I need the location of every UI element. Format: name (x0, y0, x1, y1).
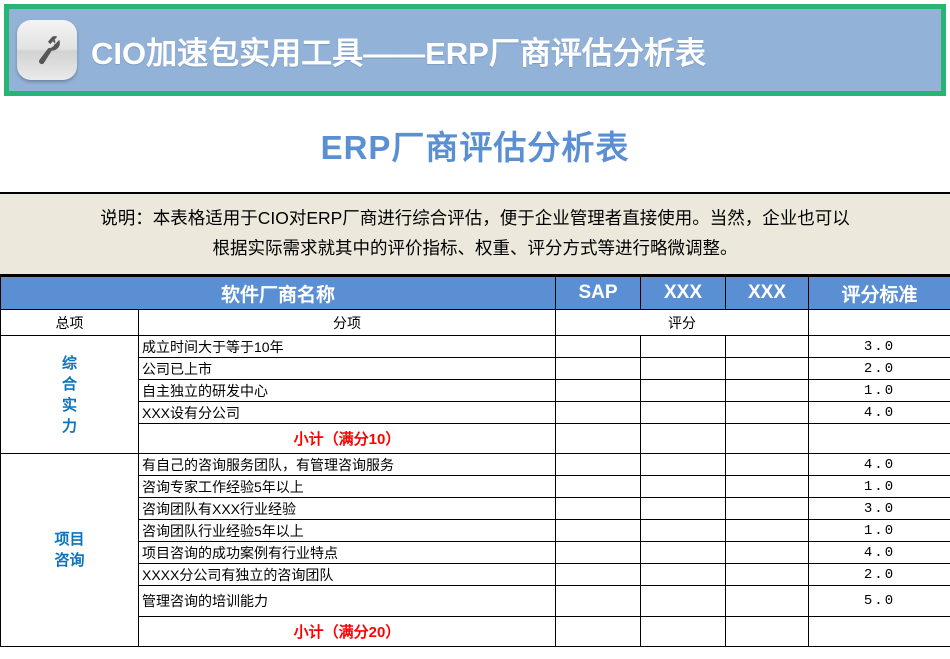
item-label: XXXX分公司有独立的咨询团队 (139, 564, 556, 586)
subtotal-score-sap[interactable] (556, 617, 641, 647)
category-char: 咨询 (4, 550, 135, 571)
table-row: 管理咨询的培训能力5.0 (1, 586, 950, 617)
score-input-x2[interactable] (726, 586, 809, 617)
standard-value: 4.0 (809, 402, 950, 424)
subtotal-score-x1[interactable] (641, 617, 726, 647)
category-char: 项目 (4, 529, 135, 550)
score-input-x1[interactable] (641, 564, 726, 586)
table-header-row: 软件厂商名称 SAP XXX XXX 评分标准 (1, 277, 950, 310)
subtotal-score-sap[interactable] (556, 424, 641, 454)
standard-value: 4.0 (809, 542, 950, 564)
score-input-x2[interactable] (726, 542, 809, 564)
table-row: 咨询团队有XXX行业经验3.0 (1, 498, 950, 520)
table-row: 公司已上市2.0 (1, 358, 950, 380)
header-col-x1: XXX (641, 277, 726, 310)
score-input-sap[interactable] (556, 454, 641, 476)
table-row: 咨询团队行业经验5年以上1.0 (1, 520, 950, 542)
standard-value: 2.0 (809, 358, 950, 380)
score-input-x1[interactable] (641, 380, 726, 402)
header-col-x2: XXX (726, 277, 809, 310)
wrench-icon (17, 20, 77, 80)
table-row: 咨询专家工作经验5年以上1.0 (1, 476, 950, 498)
header-col-sap: SAP (556, 277, 641, 310)
table-row: 综合实力成立时间大于等于10年3.0 (1, 336, 950, 358)
table-subheader-row: 总项 分项 评分 (1, 310, 950, 336)
score-input-x1[interactable] (641, 402, 726, 424)
subheader-standard (809, 310, 950, 336)
score-input-sap[interactable] (556, 498, 641, 520)
category-cell-0: 综合实力 (1, 336, 139, 454)
header-vendor-name: 软件厂商名称 (1, 277, 556, 310)
item-label: 有自己的咨询服务团队，有管理咨询服务 (139, 454, 556, 476)
table-row: 项目咨询的成功案例有行业特点4.0 (1, 542, 950, 564)
table-body: 综合实力成立时间大于等于10年3.0公司已上市2.0自主独立的研发中心1.0XX… (1, 336, 950, 647)
category-char: 实 (4, 395, 135, 416)
subtotal-standard (809, 617, 950, 647)
subtotal-standard (809, 424, 950, 454)
item-label: XXX设有分公司 (139, 402, 556, 424)
item-label: 管理咨询的培训能力 (139, 586, 556, 617)
score-input-sap[interactable] (556, 542, 641, 564)
score-input-x1[interactable] (641, 336, 726, 358)
subtotal-row: 小计（满分10） (1, 424, 950, 454)
subtotal-score-x1[interactable] (641, 424, 726, 454)
score-input-sap[interactable] (556, 402, 641, 424)
standard-value: 3.0 (809, 336, 950, 358)
subtotal-row: 小计（满分20） (1, 617, 950, 647)
score-input-x1[interactable] (641, 476, 726, 498)
page-title: ERP厂商评估分析表 (0, 121, 950, 169)
score-input-x1[interactable] (641, 586, 726, 617)
evaluation-table: 软件厂商名称 SAP XXX XXX 评分标准 总项 分项 评分 综合实力成立时… (0, 276, 950, 647)
table-row: XXXX分公司有独立的咨询团队2.0 (1, 564, 950, 586)
standard-value: 5.0 (809, 586, 950, 617)
banner-title: CIO加速包实用工具——ERP厂商评估分析表 (91, 28, 706, 73)
score-input-x1[interactable] (641, 542, 726, 564)
score-input-x2[interactable] (726, 358, 809, 380)
standard-value: 1.0 (809, 476, 950, 498)
category-char: 力 (4, 416, 135, 437)
header-col-standard: 评分标准 (809, 277, 950, 310)
score-input-x2[interactable] (726, 564, 809, 586)
score-input-x1[interactable] (641, 454, 726, 476)
score-input-x1[interactable] (641, 358, 726, 380)
item-label: 自主独立的研发中心 (139, 380, 556, 402)
subtotal-label: 小计（满分10） (139, 424, 556, 454)
table-row: 项目咨询有自己的咨询服务团队，有管理咨询服务4.0 (1, 454, 950, 476)
score-input-sap[interactable] (556, 336, 641, 358)
score-input-sap[interactable] (556, 380, 641, 402)
score-input-sap[interactable] (556, 520, 641, 542)
standard-value: 1.0 (809, 520, 950, 542)
subheader-sub-item: 分项 (139, 310, 556, 336)
table-row: 自主独立的研发中心1.0 (1, 380, 950, 402)
table-row: XXX设有分公司4.0 (1, 402, 950, 424)
score-input-x2[interactable] (726, 498, 809, 520)
category-char: 综 (4, 353, 135, 374)
standard-value: 1.0 (809, 380, 950, 402)
score-input-x1[interactable] (641, 498, 726, 520)
category-char: 合 (4, 374, 135, 395)
item-label: 项目咨询的成功案例有行业特点 (139, 542, 556, 564)
score-input-x2[interactable] (726, 454, 809, 476)
score-input-sap[interactable] (556, 564, 641, 586)
score-input-sap[interactable] (556, 586, 641, 617)
standard-value: 3.0 (809, 498, 950, 520)
score-input-sap[interactable] (556, 476, 641, 498)
app-banner: CIO加速包实用工具——ERP厂商评估分析表 (4, 4, 946, 96)
item-label: 公司已上市 (139, 358, 556, 380)
score-input-x2[interactable] (726, 380, 809, 402)
score-input-x2[interactable] (726, 402, 809, 424)
description-line-2: 根据实际需求就其中的评价指标、权重、评分方式等进行略微调整。 (10, 233, 940, 263)
standard-value: 4.0 (809, 454, 950, 476)
subtotal-label: 小计（满分20） (139, 617, 556, 647)
subheader-total-item: 总项 (1, 310, 139, 336)
item-label: 成立时间大于等于10年 (139, 336, 556, 358)
subheader-score: 评分 (556, 310, 809, 336)
description-line-1: 说明：本表格适用于CIO对ERP厂商进行综合评估，便于企业管理者直接使用。当然，… (10, 203, 940, 233)
item-label: 咨询团队行业经验5年以上 (139, 520, 556, 542)
item-label: 咨询专家工作经验5年以上 (139, 476, 556, 498)
score-input-x2[interactable] (726, 336, 809, 358)
score-input-x2[interactable] (726, 476, 809, 498)
score-input-x1[interactable] (641, 520, 726, 542)
subtotal-score-x2[interactable] (726, 424, 809, 454)
category-cell-1: 项目咨询 (1, 454, 139, 647)
standard-value: 2.0 (809, 564, 950, 586)
score-input-x2[interactable] (726, 520, 809, 542)
score-input-sap[interactable] (556, 358, 641, 380)
subtotal-score-x2[interactable] (726, 617, 809, 647)
item-label: 咨询团队有XXX行业经验 (139, 498, 556, 520)
description-box: 说明：本表格适用于CIO对ERP厂商进行综合评估，便于企业管理者直接使用。当然，… (0, 192, 950, 276)
